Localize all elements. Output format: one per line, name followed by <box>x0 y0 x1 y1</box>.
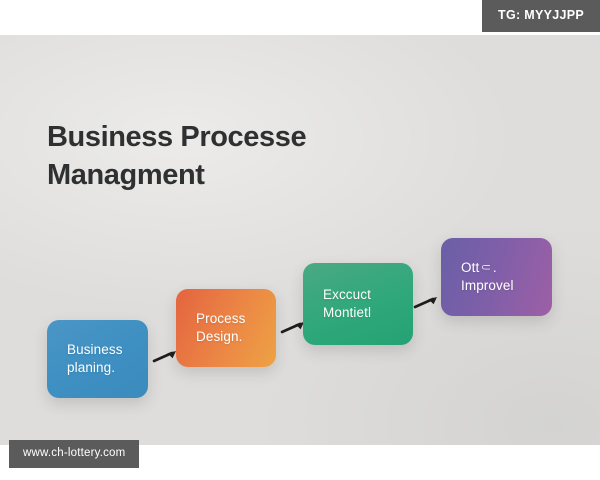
flow-step-label: Ott⸦. Improvel <box>461 259 514 295</box>
arrow-right-icon <box>413 291 443 313</box>
site-watermark-badge: www.ch-lottery.com <box>9 440 139 469</box>
flow-step-execute-monitor: Exccuct Montietl <box>303 263 413 345</box>
flow-step-label: Exccuct Montietl <box>323 286 371 322</box>
telegram-watermark-badge: TG: MYYJJPP <box>482 0 600 32</box>
flow-step-process-design: Process Design. <box>176 289 276 367</box>
slide-heading: Business Processe Managment <box>47 118 347 195</box>
flow-step-label: Process Design. <box>196 310 245 346</box>
slide-canvas: Business Processe Managment Business pla… <box>0 35 600 445</box>
flow-step-business-planning: Business planing. <box>47 320 148 398</box>
flow-step-optimize-improve: Ott⸦. Improvel <box>441 238 552 316</box>
flow-step-label: Business planing. <box>67 341 123 377</box>
